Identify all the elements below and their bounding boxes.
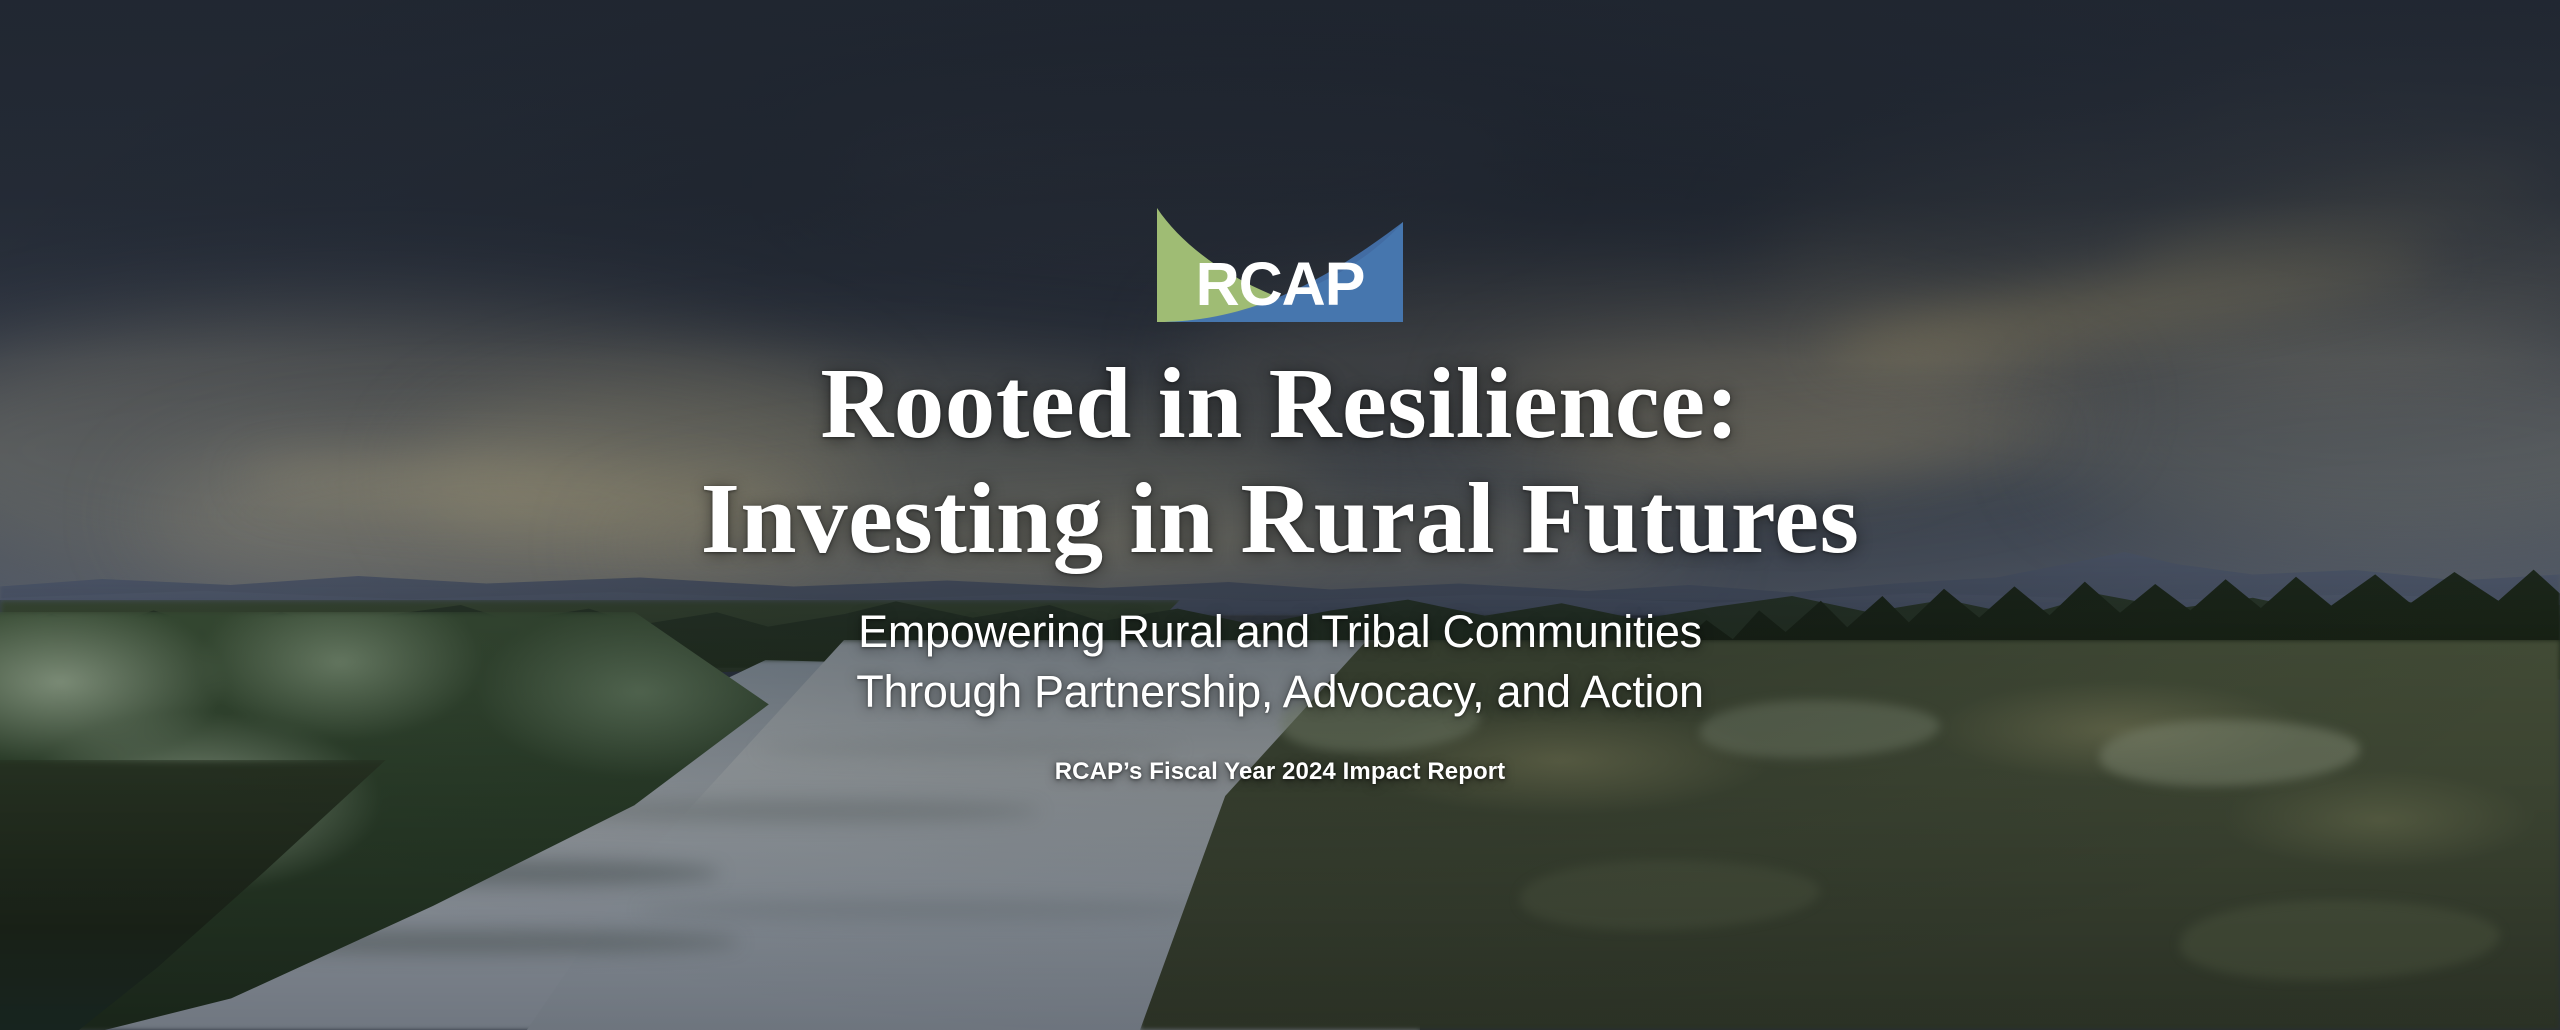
page-subtitle: Empowering Rural and Tribal Communities … xyxy=(856,602,1703,722)
cover-content: RCAP Rooted in Resilience: Investing in … xyxy=(0,0,2560,1030)
report-cover-hero: RCAP Rooted in Resilience: Investing in … xyxy=(0,0,2560,1030)
title-line-1: Rooted in Resilience: xyxy=(701,346,1860,461)
logo-wordmark: RCAP xyxy=(1157,254,1403,315)
page-title: Rooted in Resilience: Investing in Rural… xyxy=(701,346,1860,576)
report-caption: RCAP’s Fiscal Year 2024 Impact Report xyxy=(1055,758,1506,786)
title-line-2: Investing in Rural Futures xyxy=(701,461,1860,576)
rcap-logo: RCAP xyxy=(1157,200,1403,322)
subtitle-line-2: Through Partnership, Advocacy, and Actio… xyxy=(856,662,1703,722)
subtitle-line-1: Empowering Rural and Tribal Communities xyxy=(856,602,1703,662)
